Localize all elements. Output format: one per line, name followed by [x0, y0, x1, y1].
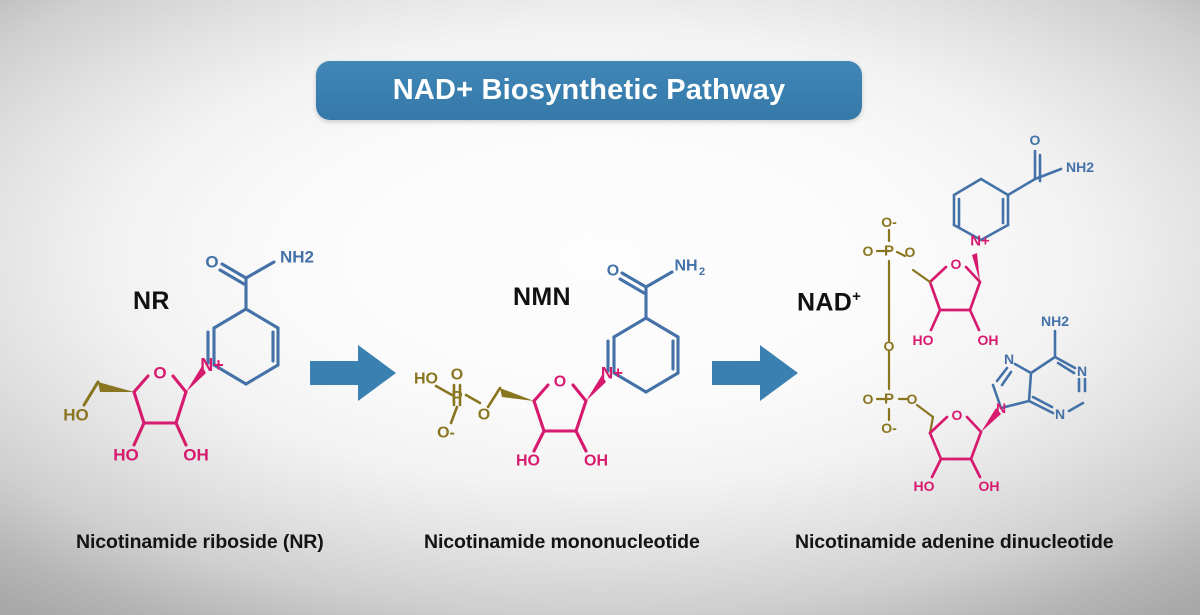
nr-amide-nh2: NH2 [280, 248, 314, 267]
nad-phosphate-upper-oxygen-left: O [863, 243, 874, 259]
nr-c5-hydroxyl: HO [63, 406, 89, 425]
nr-ring-oxygen: O [153, 364, 166, 383]
nad-amide-nh2: NH2 [1066, 159, 1094, 175]
arrow-shape [310, 345, 396, 401]
nmn-carbonyl-oxygen: O [607, 263, 619, 280]
nad-phosphate-upper-ester-oxygen: O [905, 244, 916, 260]
title-banner: NAD+ Biosynthetic Pathway [316, 61, 862, 120]
nad-upper-c2-hydroxyl: OH [978, 332, 999, 348]
nad-adenine-n1: N [1077, 363, 1087, 379]
nmn-phosphate-anion-oxygen: O- [437, 425, 455, 442]
nr-c2-hydroxyl: OH [183, 446, 209, 465]
page-title: NAD+ Biosynthetic Pathway [393, 74, 786, 107]
nad-adenine-amine: NH2 [1041, 313, 1069, 329]
nad-upper-ring-oxygen: O [951, 256, 962, 272]
nad-adenine-n3: N [1055, 406, 1065, 422]
nad-adenine-n9: N [996, 400, 1006, 416]
nad-pyridinium-nitrogen: N+ [970, 233, 990, 250]
nad-phosphate-upper-anion: O- [881, 214, 897, 230]
nmn-amide-nh: NH [674, 258, 697, 275]
nad-carbonyl-oxygen: O [1030, 132, 1041, 148]
nad-phosphate-lower-anion: O- [881, 420, 897, 436]
caption-nicotinamide-mononucleotide: Nicotinamide mononucleotide [424, 531, 700, 554]
diagram-canvas: NAD+ Biosynthetic Pathway NR NMN NAD+ [0, 0, 1200, 615]
nad-lower-c2-hydroxyl: OH [979, 478, 1000, 494]
nmn-phosphate-double-oxygen: O [451, 367, 463, 384]
nad-bridging-oxygen: O [884, 338, 895, 354]
nmn-c5-wedge [500, 388, 534, 401]
caption-nicotinamide-adenine-dinucleotide: Nicotinamide adenine dinucleotide [795, 531, 1114, 554]
nad-adenosine-ribose [930, 417, 981, 477]
arrow-nr-to-nmn [310, 341, 396, 405]
nmn-ring-oxygen: O [554, 374, 566, 391]
nad-phosphate-lower-ester-oxygen: O [907, 391, 918, 407]
nad-phosphorus-lower: P [884, 391, 894, 408]
nad-nicotinamide-ribose [930, 267, 980, 330]
arrow-shape [712, 345, 798, 401]
structure-nicotinamide-riboside: O NH2 N+ O HO HO [60, 240, 320, 470]
nad-lower-c3-hydroxyl: HO [914, 478, 935, 494]
nad-upper-c3-hydroxyl: HO [913, 332, 934, 348]
nr-c3-hydroxyl: HO [113, 446, 139, 465]
caption-nicotinamide-riboside: Nicotinamide riboside (NR) [76, 531, 324, 554]
nad-adenine-ring [993, 331, 1085, 413]
nr-glycosidic-wedge [186, 366, 206, 392]
nmn-phosphorus: P [451, 388, 462, 407]
nad-phosphorus-upper: P [884, 243, 894, 260]
molecule-tag-nad-label: NAD [797, 288, 852, 316]
nad-pyridinium-ring [954, 151, 1061, 240]
nr-c5-wedge [98, 382, 134, 392]
molecule-tag-nad: NAD+ [797, 288, 861, 317]
nad-phosphate-lower-oxygen-left: O [863, 391, 874, 407]
nad-lower-ring-oxygen: O [952, 407, 963, 423]
nmn-amide-subscript: 2 [699, 266, 705, 278]
nr-hydroxymethyl [84, 382, 98, 405]
nmn-c2-hydroxyl: OH [584, 453, 608, 470]
nad-adenine-n7: N [1004, 351, 1014, 367]
nmn-phosphate-hydroxyl: HO [414, 371, 438, 388]
structure-nad-plus: O NH2 N+ O HO OH [855, 125, 1165, 495]
structure-nicotinamide-mononucleotide: O NH 2 N+ O HO OH [418, 245, 688, 460]
nmn-glycosidic-wedge [586, 375, 606, 401]
arrow-nmn-to-nad [712, 341, 798, 405]
nmn-ester-oxygen: O [478, 407, 490, 424]
nr-carbonyl-oxygen: O [205, 253, 218, 272]
nmn-ribose-ring [534, 385, 586, 451]
nmn-phosphate-bonds [436, 385, 500, 423]
nmn-c3-hydroxyl: HO [516, 453, 540, 470]
nr-ribose-ring [134, 376, 186, 445]
